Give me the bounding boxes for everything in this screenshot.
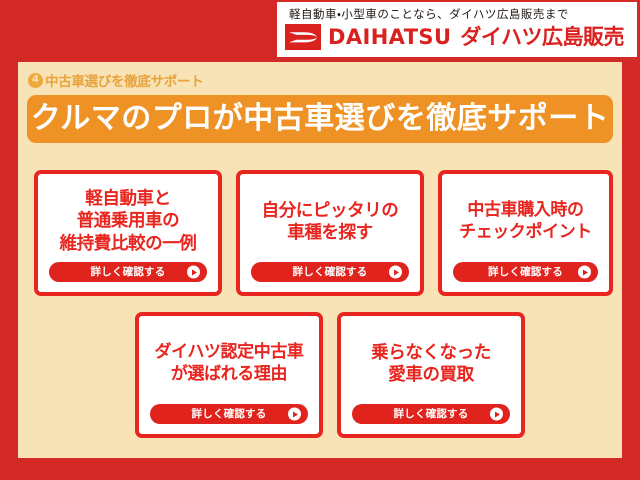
- header-tagline: 軽自動車・小型車のことなら、ダイハツ広島販売まで: [277, 2, 637, 22]
- card-cta-label: 詳しく確認する: [394, 409, 469, 420]
- promo-card-certified-used[interactable]: ダイハツ認定中古車 が選ばれる理由 詳しく確認する: [135, 312, 323, 438]
- card-cta-button[interactable]: 詳しく確認する: [251, 262, 409, 282]
- promo-card-find-model[interactable]: 自分にピッタリの 車種を探す 詳しく確認する: [236, 170, 424, 296]
- daihatsu-d-mark-icon: [285, 24, 321, 50]
- content-panel: 4 中古車選びを徹底サポート クルマのプロが中古車選びを徹底サポート 軽自動車と…: [18, 62, 622, 458]
- card-cta-label: 詳しく確認する: [192, 409, 267, 420]
- play-arrow-icon: [389, 266, 402, 279]
- brand-logo-lockup: DAIHATSU ダイハツ広島販売: [277, 24, 637, 50]
- page-title: クルマのプロが中古車選びを徹底サポート: [31, 104, 610, 134]
- play-arrow-icon: [187, 266, 200, 279]
- brand-latin-name: DAIHATSU: [328, 27, 451, 48]
- card-cta-button[interactable]: 詳しく確認する: [453, 262, 598, 282]
- kicker-label: 中古車選びを徹底サポート: [45, 70, 203, 90]
- card-cta-label: 詳しく確認する: [488, 267, 563, 278]
- card-cta-label: 詳しく確認する: [293, 267, 368, 278]
- card-cta-button[interactable]: 詳しく確認する: [150, 404, 308, 424]
- card-title: 自分にピッタリの 車種を探す: [240, 200, 420, 245]
- promo-banner-screen: 軽自動車・小型車のことなら、ダイハツ広島販売まで DAIHATSU ダイハツ広島…: [0, 0, 640, 480]
- kicker-number-badge: 4: [28, 73, 43, 88]
- brand-header: 軽自動車・小型車のことなら、ダイハツ広島販売まで DAIHATSU ダイハツ広島…: [277, 2, 637, 57]
- play-arrow-icon: [288, 408, 301, 421]
- promo-card-maintenance-cost[interactable]: 軽自動車と 普通乗用車の 維持費比較の一例 詳しく確認する: [34, 170, 222, 296]
- promo-card-checkpoints[interactable]: 中古車購入時の チェックポイント 詳しく確認する: [438, 170, 613, 296]
- card-title: 軽自動車と 普通乗用車の 維持費比較の一例: [38, 188, 218, 255]
- card-title: ダイハツ認定中古車 が選ばれる理由: [139, 342, 319, 386]
- promo-card-trade-in[interactable]: 乗らなくなった 愛車の買取 詳しく確認する: [337, 312, 525, 438]
- card-title: 中古車購入時の チェックポイント: [442, 200, 609, 244]
- play-arrow-icon: [490, 408, 503, 421]
- brand-jp-name: ダイハツ広島販売: [460, 27, 624, 48]
- card-cta-button[interactable]: 詳しく確認する: [49, 262, 207, 282]
- section-kicker: 4 中古車選びを徹底サポート: [28, 70, 203, 90]
- card-cta-label: 詳しく確認する: [91, 267, 166, 278]
- play-arrow-icon: [578, 266, 591, 279]
- card-cta-button[interactable]: 詳しく確認する: [352, 404, 510, 424]
- card-title: 乗らなくなった 愛車の買取: [341, 342, 521, 387]
- section-title-banner: クルマのプロが中古車選びを徹底サポート: [27, 95, 613, 143]
